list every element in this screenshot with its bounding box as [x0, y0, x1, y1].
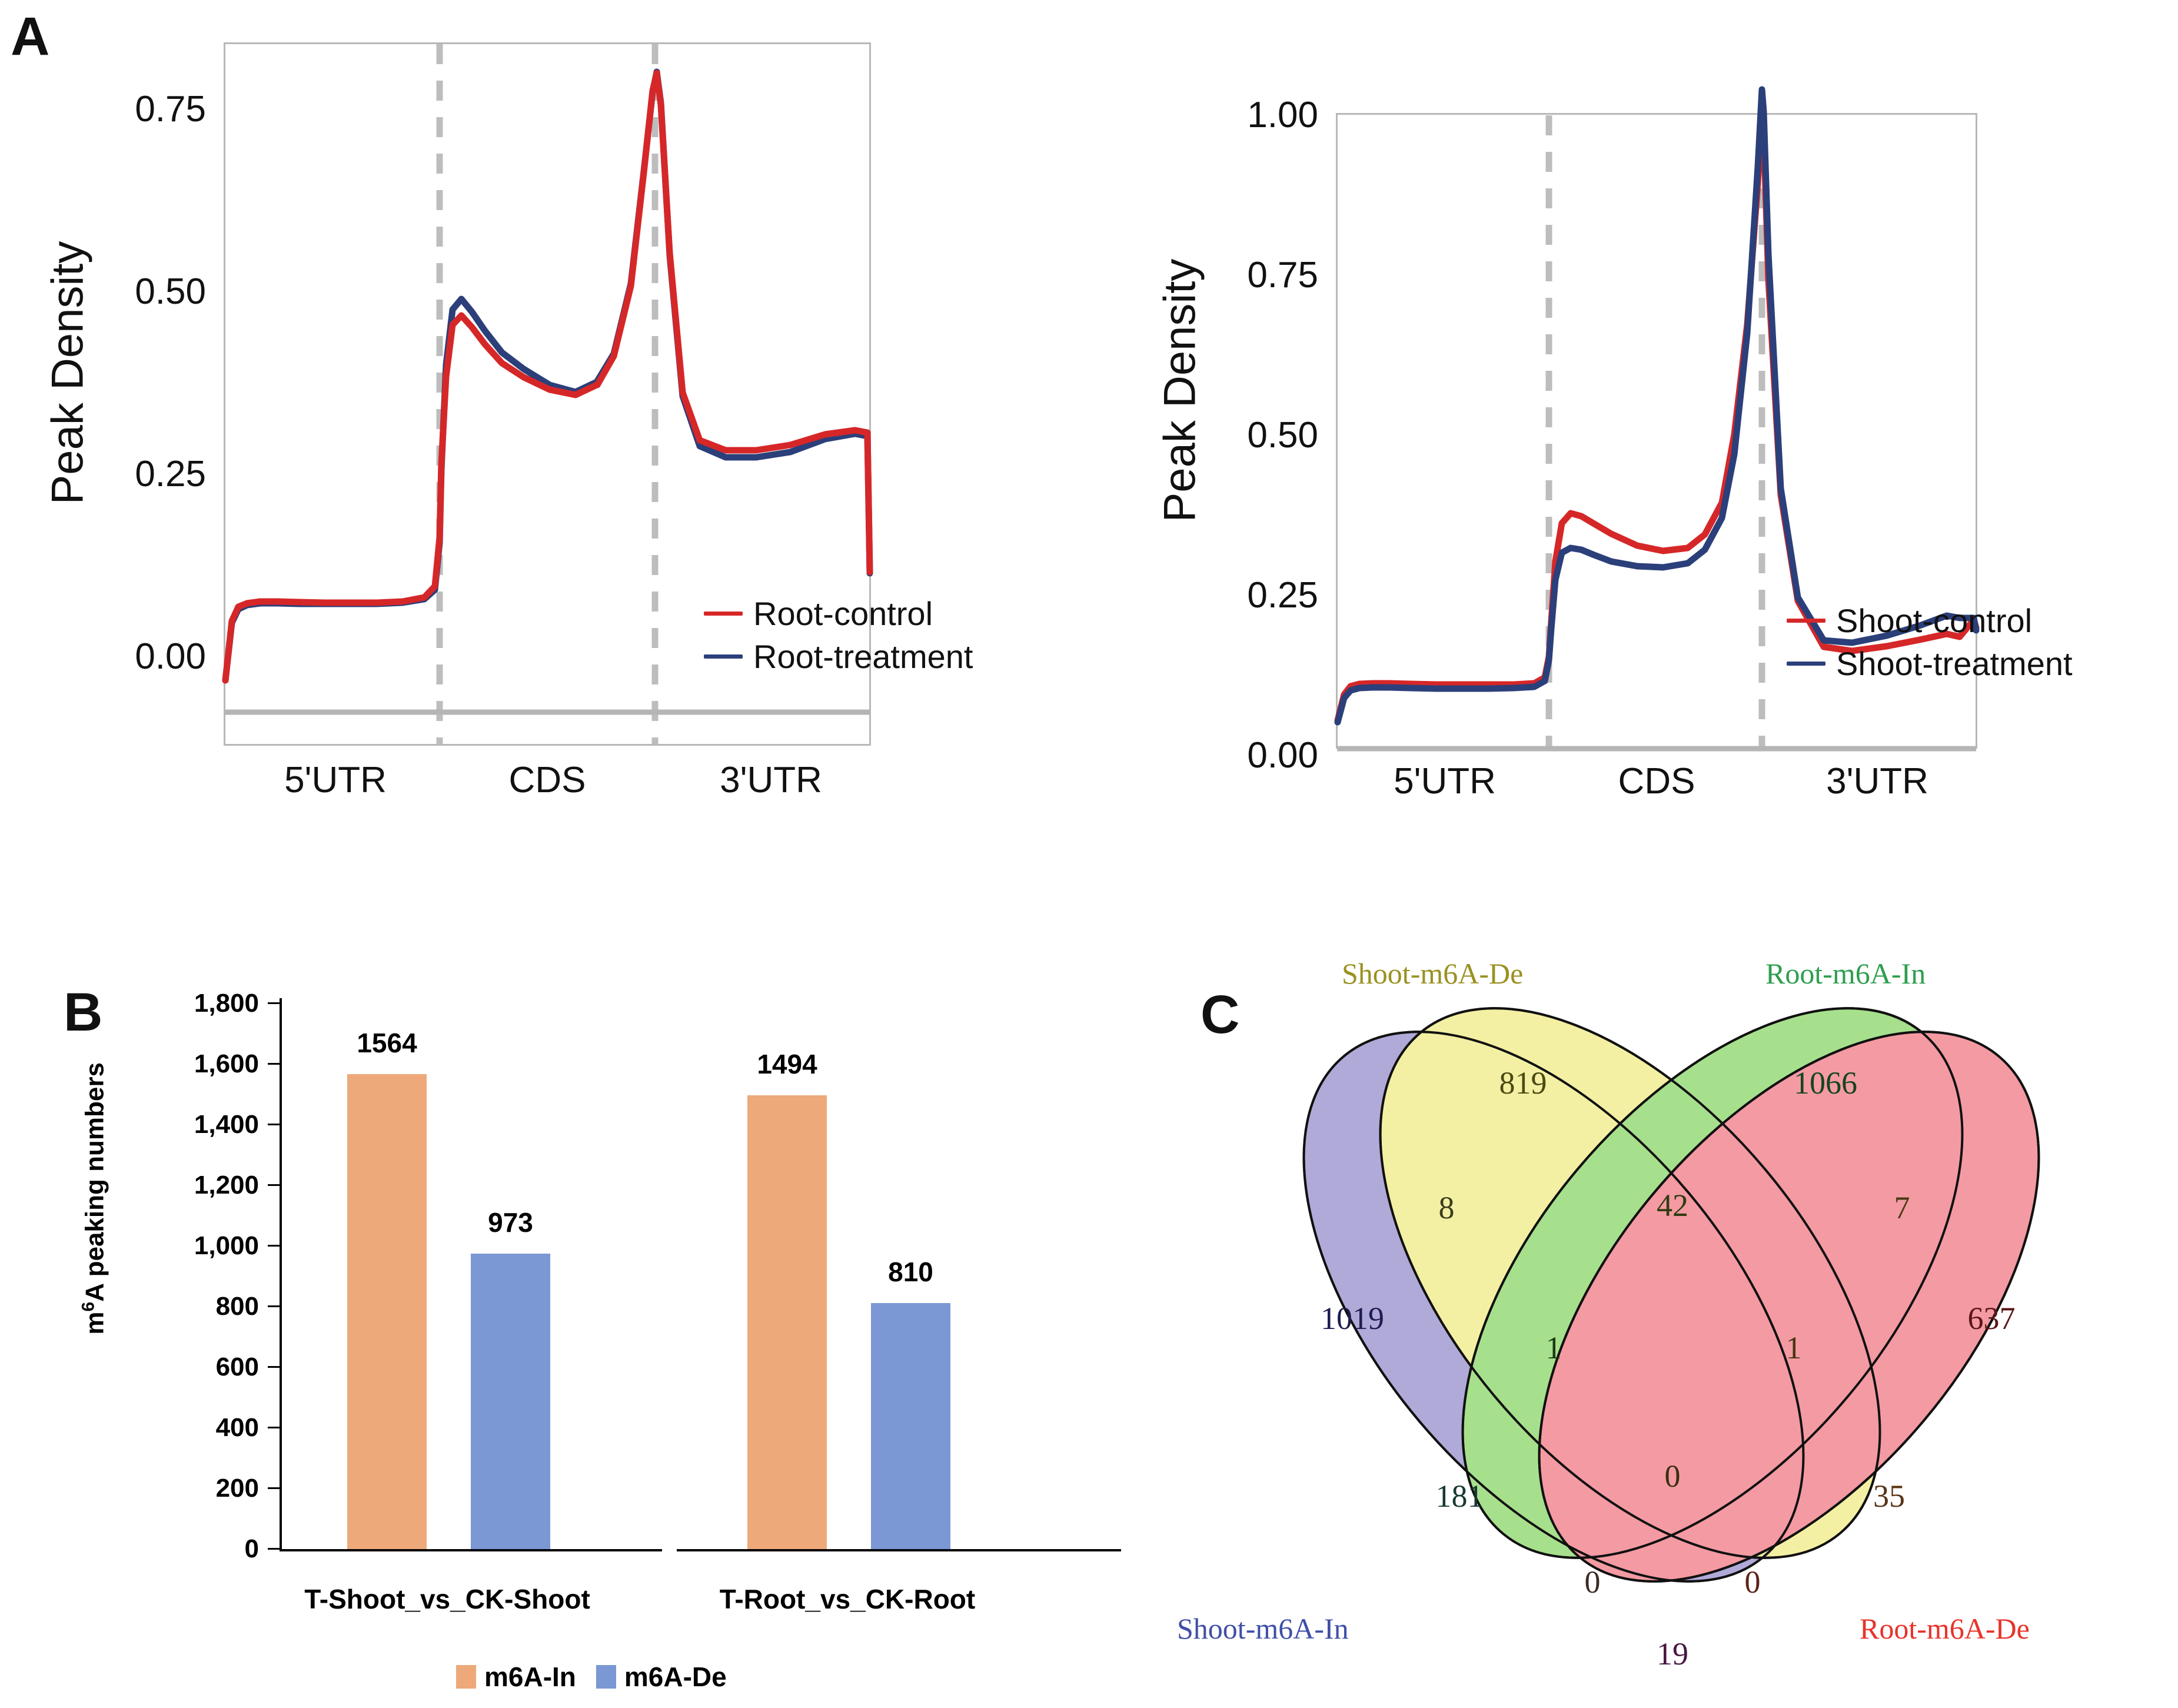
venn-count-triple-right: 1 — [1786, 1330, 1802, 1366]
bar-legend-item-m6a-de: m6A-De — [596, 1661, 727, 1693]
bar-root-m6a-in — [747, 1095, 827, 1549]
bar-ytick-1000: 1,000 — [88, 1231, 259, 1261]
venn-count-shootin-rootde: 19 — [1657, 1636, 1688, 1672]
bar-label-shoot-m6a-in: 1564 — [318, 1027, 456, 1059]
venn-count-shootin-rootin: 181 — [1436, 1478, 1484, 1514]
bar-chart-y-axis — [280, 998, 282, 1551]
peak-numbers-bar-chart: m6A peaking numbers 1,800 1,600 1,400 1,… — [0, 942, 1118, 1708]
four-set-venn-diagram: Shoot-m6A-De Root-m6A-In Shoot-m6A-In Ro… — [1165, 883, 2178, 1708]
venn-count-root-de-only: 637 — [1968, 1300, 2016, 1337]
metagene-root-xtick-cds: CDS — [465, 759, 630, 801]
metagene-shoot-xtick-5utr: 5'UTR — [1356, 760, 1533, 802]
bar-ytick-200: 200 — [88, 1474, 259, 1503]
bar-tickmark — [268, 1184, 280, 1186]
legend-swatch-shoot-control — [1787, 619, 1825, 623]
bar-xtick-shoot: T-Shoot_vs_CK-Shoot — [282, 1583, 612, 1615]
metagene-root-legend: Root-control Root-treatment — [704, 594, 973, 680]
bar-ytick-1800: 1,800 — [88, 989, 259, 1018]
bar-shoot-m6a-in — [347, 1074, 427, 1549]
metagene-shoot-xtick-cds: CDS — [1574, 760, 1739, 802]
metagene-root-xtick-5utr: 5'UTR — [247, 759, 424, 801]
bar-root-m6a-de — [871, 1303, 950, 1549]
metagene-root-svg — [0, 0, 1089, 853]
bar-tickmark — [268, 1548, 280, 1550]
legend-item-shoot-control: Shoot-control — [1787, 602, 2073, 640]
bar-chart-legend: m6A-In m6A-De — [456, 1661, 747, 1693]
bar-tickmark — [268, 1063, 280, 1065]
venn-count-shoot-in-only: 1019 — [1321, 1300, 1384, 1337]
bar-label-shoot-m6a-de: 973 — [441, 1207, 580, 1238]
venn-count-shootde-rootde: 35 — [1873, 1478, 1905, 1514]
legend-item-shoot-treatment: Shoot-treatment — [1787, 644, 2073, 683]
metagene-shoot-chart: Peak Density 1.00 0.75 0.50 0.25 0.00 5'… — [1089, 0, 2178, 853]
bar-tickmark — [268, 1124, 280, 1125]
bar-ytick-400: 400 — [88, 1413, 259, 1443]
bar-ytick-0: 0 — [88, 1534, 259, 1564]
venn-count-shootin-shootde: 8 — [1439, 1189, 1455, 1226]
bar-shoot-m6a-de — [471, 1254, 550, 1549]
bar-ytick-600: 600 — [88, 1353, 259, 1382]
bar-legend-label-m6a-in: m6A-In — [484, 1661, 576, 1693]
bar-chart-x-axis-right — [677, 1549, 1121, 1551]
venn-count-shoot-de-only: 819 — [1499, 1065, 1547, 1101]
bar-legend-swatch-m6a-de — [596, 1665, 616, 1689]
venn-count-center-all-four: 0 — [1665, 1458, 1681, 1494]
bar-chart-x-axis-left — [280, 1549, 662, 1551]
bar-ytick-1400: 1,400 — [88, 1110, 259, 1139]
venn-count-rootin-rootde: 7 — [1894, 1189, 1910, 1226]
bar-label-root-m6a-in: 1494 — [718, 1048, 856, 1080]
bar-tickmark — [268, 1487, 280, 1489]
bar-ytick-1200: 1,200 — [88, 1171, 259, 1200]
bar-label-root-m6a-de: 810 — [842, 1256, 980, 1288]
bar-tickmark — [268, 1245, 280, 1247]
bar-xtick-root: T-Root_vs_CK-Root — [683, 1583, 1012, 1615]
bar-tickmark — [268, 1002, 280, 1004]
venn-count-shootde-rootin: 42 — [1657, 1187, 1688, 1224]
metagene-shoot-legend: Shoot-control Shoot-treatment — [1787, 602, 2073, 687]
legend-label-root-control: Root-control — [753, 594, 933, 633]
bar-legend-label-m6a-de: m6A-De — [624, 1661, 727, 1693]
venn-count-root-in-only: 1066 — [1794, 1065, 1857, 1101]
bar-tickmark — [268, 1366, 280, 1368]
legend-label-root-treatment: Root-treatment — [753, 637, 973, 676]
metagene-root-xtick-3utr: 3'UTR — [683, 759, 859, 801]
metagene-shoot-xtick-3utr: 3'UTR — [1789, 760, 1966, 802]
venn-count-lower-left-zero: 0 — [1585, 1564, 1601, 1600]
legend-swatch-shoot-treatment — [1787, 662, 1825, 666]
bar-ytick-1600: 1,600 — [88, 1049, 259, 1079]
metagene-shoot-svg — [1089, 0, 2178, 853]
legend-swatch-root-control — [704, 612, 743, 616]
venn-svg: .vell{stroke:#111;stroke-width:4;} — [1165, 883, 2178, 1708]
bar-legend-swatch-m6a-in — [456, 1665, 476, 1689]
bar-ytick-800: 800 — [88, 1292, 259, 1321]
legend-label-shoot-treatment: Shoot-treatment — [1836, 644, 2073, 683]
bar-legend-item-m6a-in: m6A-In — [456, 1661, 576, 1693]
legend-item-root-treatment: Root-treatment — [704, 637, 973, 676]
venn-count-triple-left: 1 — [1546, 1330, 1562, 1366]
legend-item-root-control: Root-control — [704, 594, 973, 633]
metagene-root-chart: Peak Density 0.75 0.50 0.25 0.00 5'UTR C… — [0, 0, 1089, 853]
legend-label-shoot-control: Shoot-control — [1836, 602, 2032, 640]
bar-tickmark — [268, 1427, 280, 1428]
legend-swatch-root-treatment — [704, 654, 743, 659]
venn-count-lower-right-zero: 0 — [1745, 1564, 1761, 1600]
bar-tickmark — [268, 1305, 280, 1307]
